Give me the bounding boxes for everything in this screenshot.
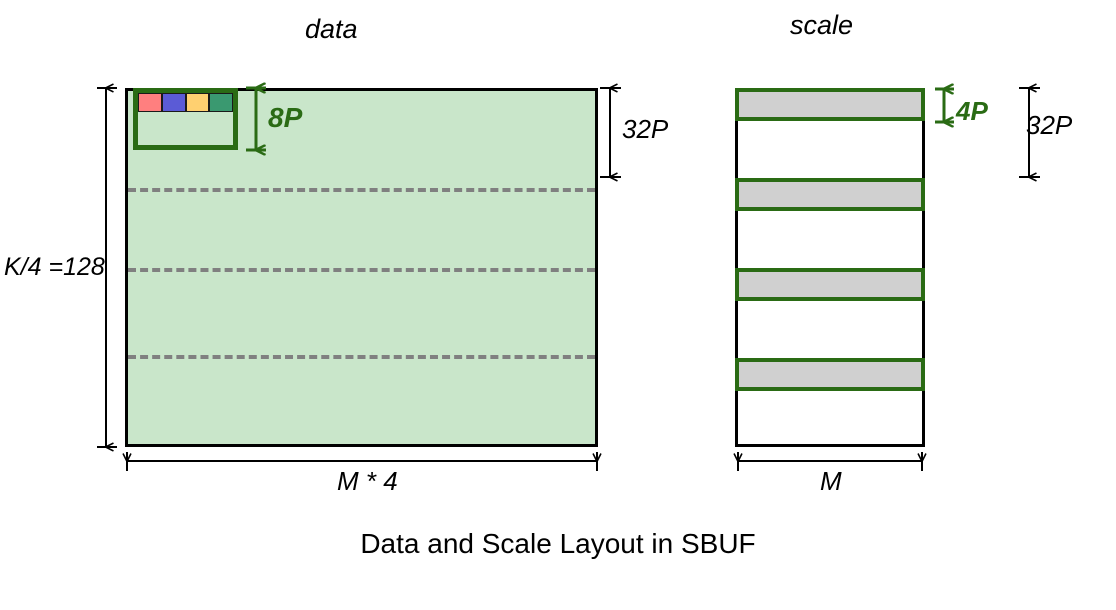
- dimension-32p-data: [600, 88, 621, 177]
- dimension-label-k4: K/4 =128: [4, 253, 105, 282]
- tile-cell-blue: [162, 93, 186, 112]
- data-row-divider-1: [128, 188, 595, 192]
- dimension-label-32p-scale: 32P: [1026, 110, 1072, 141]
- data-row-divider-2: [128, 268, 595, 272]
- scale-section-title: scale: [790, 10, 853, 41]
- data-section-title: data: [305, 14, 358, 45]
- dimension-label-8p: 8P: [268, 102, 302, 134]
- dimension-label-4p: 4P: [956, 96, 988, 127]
- dimension-label-m-times-4: M * 4: [337, 466, 398, 497]
- scale-band-1: [735, 88, 925, 121]
- scale-band-3: [735, 268, 925, 301]
- dimension-label-32p-data: 32P: [622, 114, 668, 145]
- data-tile-strip: [138, 93, 233, 112]
- tile-cell-yellow: [186, 93, 210, 112]
- scale-band-2: [735, 178, 925, 211]
- data-row-divider-3: [128, 355, 595, 359]
- dimension-label-m: M: [820, 466, 842, 497]
- data-tile-group: [133, 88, 238, 150]
- tile-cell-red: [138, 93, 162, 112]
- diagram-canvas: data scale: [0, 0, 1116, 610]
- tile-cell-green: [209, 93, 233, 112]
- scale-matrix-box: [735, 88, 925, 447]
- figure-caption: Data and Scale Layout in SBUF: [0, 528, 1116, 560]
- dimension-4p: [935, 89, 954, 122]
- scale-band-4: [735, 358, 925, 391]
